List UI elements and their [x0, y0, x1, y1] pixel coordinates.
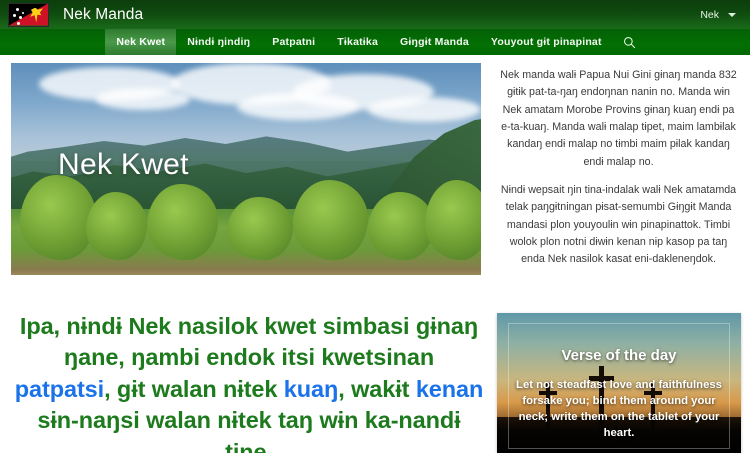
cloud	[96, 88, 190, 109]
headline-section: Ipa, nɨndɨ Nek nasilok kwet simbasi gɨna…	[0, 275, 490, 453]
headline-segment: , wakɨt	[338, 376, 416, 402]
verse-card-text: Let not steadfast love and faithfulness …	[507, 377, 731, 441]
verse-card-title: Verse of the day	[497, 347, 741, 364]
site-header: Nek Manda Nek	[0, 0, 750, 29]
intro-paragraph-2: Nɨndɨ wepsait ŋin tina-indalak walɨ Nek …	[497, 182, 740, 269]
headline-link-kenan[interactable]: kenan	[416, 376, 483, 402]
left-column: Nek Kwet	[0, 63, 483, 275]
nav-item-gingit-manda[interactable]: Gɨŋgɨt Manda	[389, 29, 480, 55]
nav-item-nindi-nindin[interactable]: Nɨndɨ ŋindiŋ	[176, 29, 261, 55]
headline-segment: Ipa, nɨndɨ Nek nasilok kwet simbasi gɨna…	[20, 313, 478, 370]
search-icon	[623, 36, 636, 49]
main-navigation: Nek Kwet Nɨndɨ ŋindiŋ Patpatni Tɨkatɨka …	[0, 29, 750, 55]
cloud	[237, 93, 359, 121]
site-brand-title: Nek Manda	[63, 6, 143, 24]
language-selector[interactable]: Nek	[700, 9, 736, 21]
nav-item-youyout-git-pinapinat[interactable]: Youyout gɨt pinapinat	[480, 29, 613, 55]
headline-link-patpatsi[interactable]: patpatsi	[15, 376, 104, 402]
headline-segment: sɨn-naŋsi walan nɨtek taŋ wɨn ka-nandɨ t…	[37, 407, 460, 453]
flag-star	[13, 14, 16, 17]
nav-items-container: Nek Kwet Nɨndɨ ŋindiŋ Patpatni Tɨkatɨka …	[105, 29, 644, 55]
nav-item-tikatika[interactable]: Tɨkatɨka	[326, 29, 389, 55]
right-column: Nek manda walɨ Papua Nui Gini gɨnaŋ mand…	[483, 63, 750, 269]
nav-item-patpatni[interactable]: Patpatni	[261, 29, 326, 55]
headline-text: Ipa, nɨndɨ Nek nasilok kwet simbasi gɨna…	[14, 311, 484, 453]
bush	[86, 192, 147, 260]
flag-star	[16, 8, 19, 11]
bush	[147, 184, 218, 260]
headline-link-kuan[interactable]: kuaŋ	[284, 376, 338, 402]
search-button[interactable]	[613, 29, 645, 55]
intro-paragraph-1: Nek manda walɨ Papua Nui Gini gɨnaŋ mand…	[497, 67, 740, 171]
flag-star	[22, 12, 24, 14]
nav-item-nek-kwet[interactable]: Nek Kwet	[105, 29, 176, 55]
intro-text: Nek manda walɨ Papua Nui Gini gɨnaŋ mand…	[493, 63, 744, 269]
png-flag-icon	[8, 3, 49, 27]
headline-segment: , gɨt walan nɨtek	[104, 376, 284, 402]
verse-of-the-day-card[interactable]: Verse of the day Let not steadfast love …	[497, 313, 741, 453]
language-selector-label: Nek	[700, 9, 719, 21]
main-content: Nek Kwet Nek manda walɨ Papua Nui Gini g…	[0, 55, 750, 275]
bush	[20, 175, 95, 260]
bush	[227, 197, 293, 261]
hero-image: Nek Kwet	[11, 63, 481, 275]
bush	[293, 180, 368, 261]
flag-star	[17, 22, 20, 25]
chevron-down-icon	[728, 13, 736, 17]
hero-title: Nek Kwet	[58, 148, 189, 182]
flag-star	[19, 16, 22, 19]
